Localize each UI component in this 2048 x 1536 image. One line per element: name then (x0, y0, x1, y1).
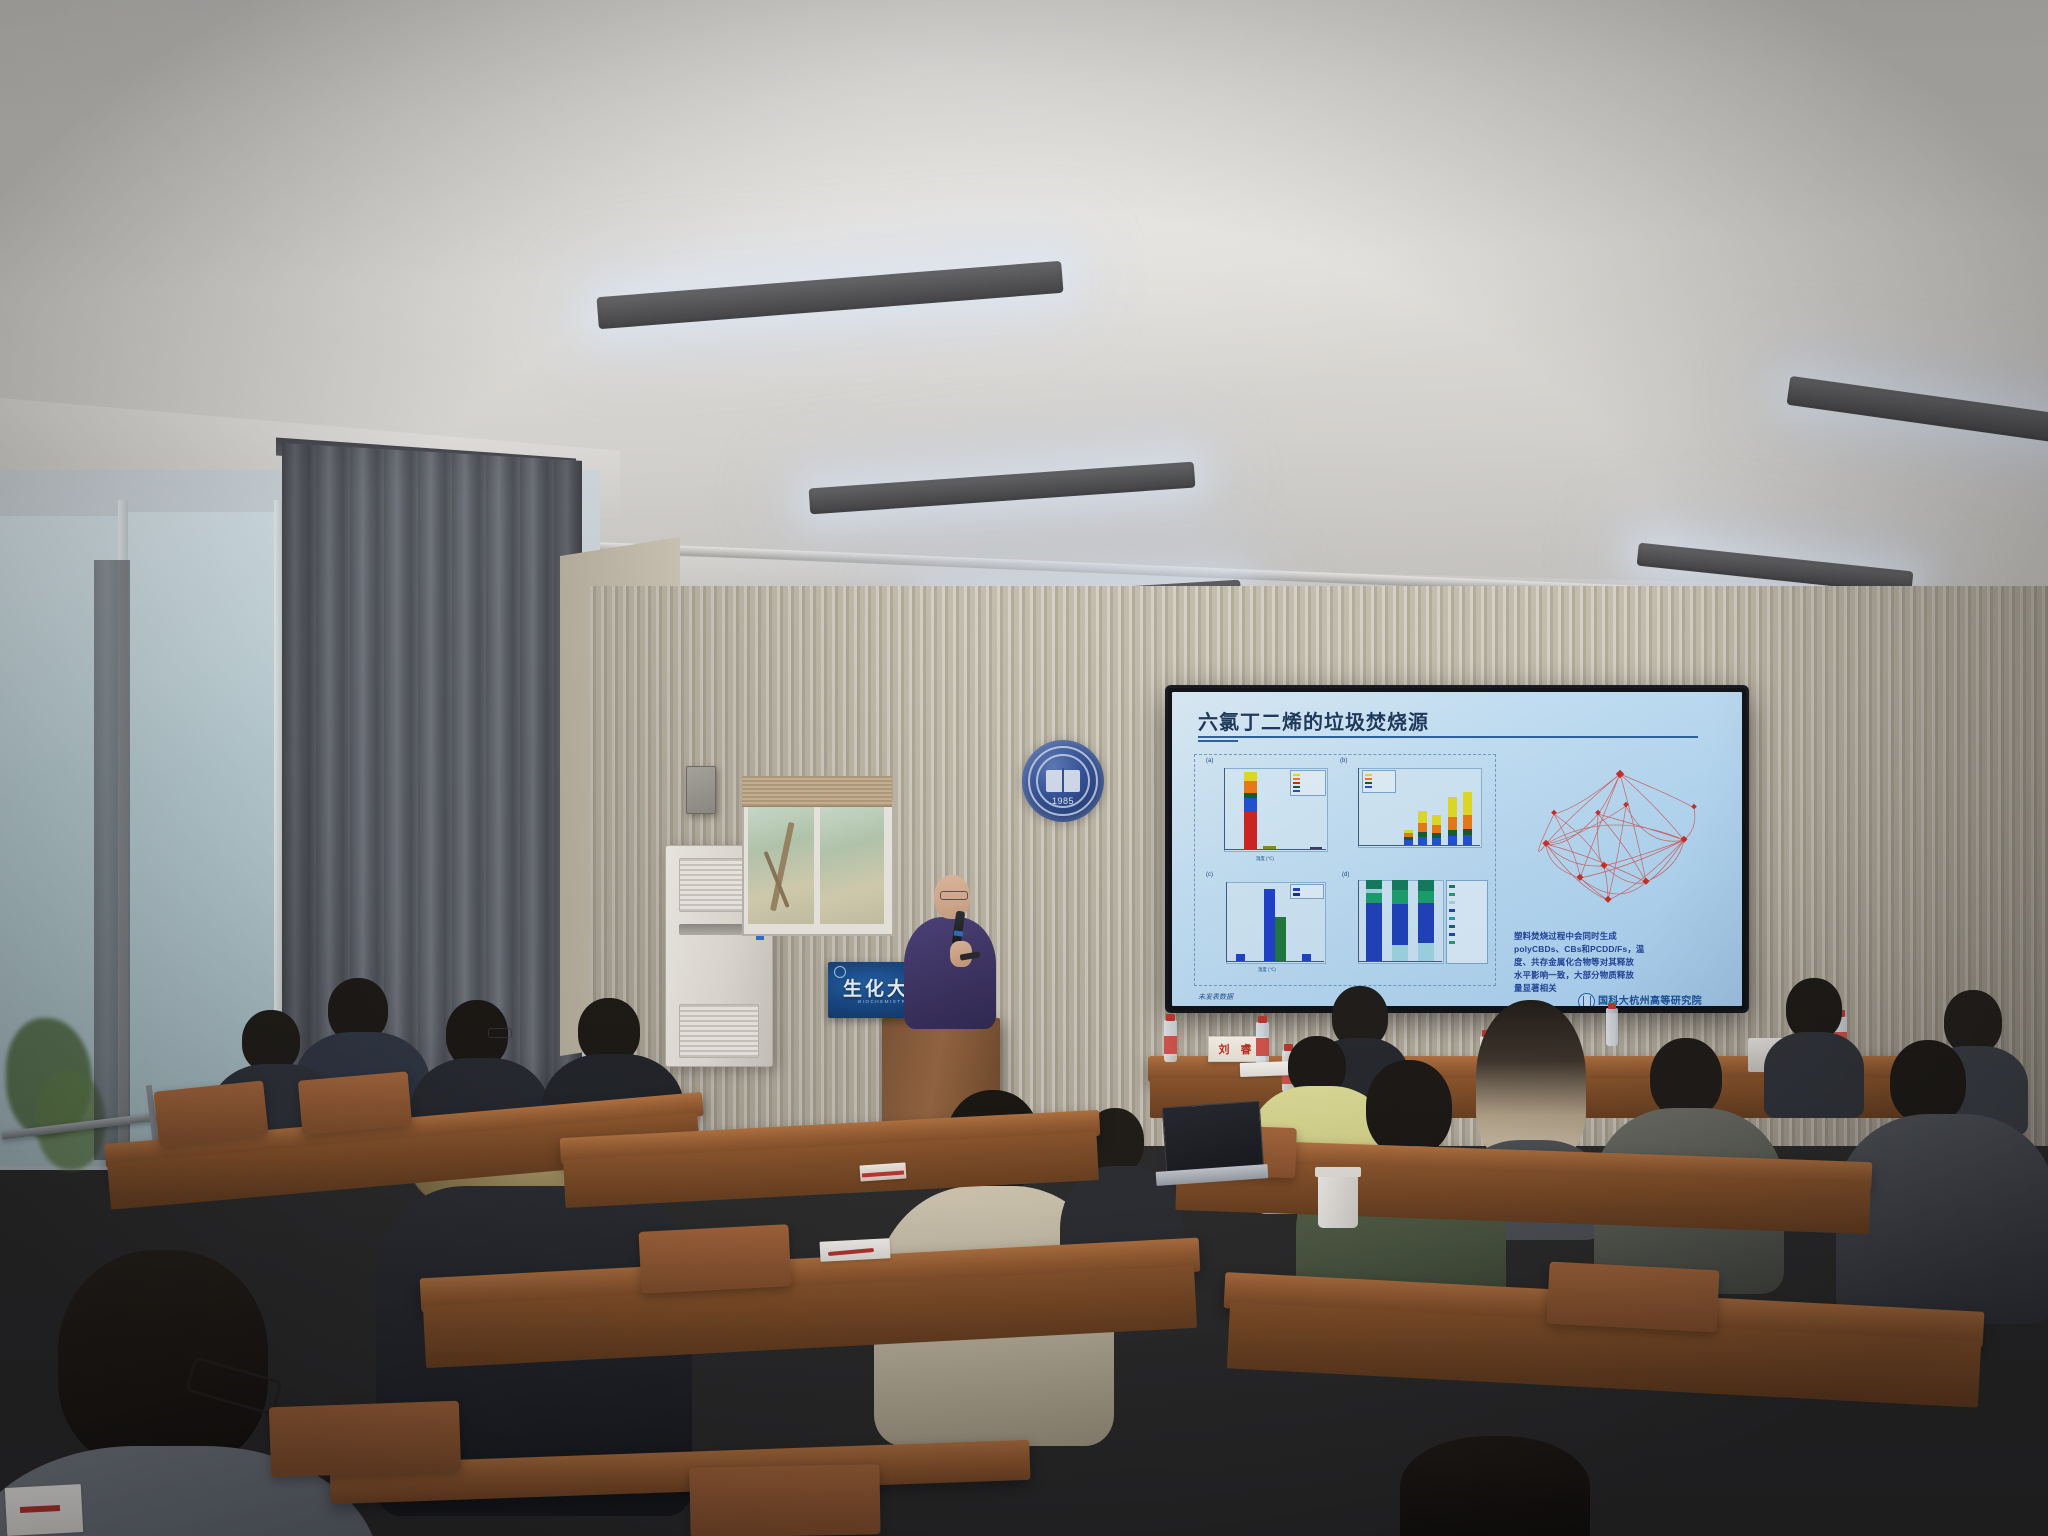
chart-panel-b: (b) (1338, 760, 1488, 868)
panel-c-label: (c) (1206, 872, 1213, 878)
chair-back-1[interactable] (153, 1080, 268, 1145)
speaker-torso (904, 917, 996, 1029)
chair-back-2[interactable] (298, 1071, 412, 1134)
panel-a-label: (a) (1206, 758, 1213, 764)
panel-d-legend-swatch-4 (1449, 909, 1455, 912)
panel-c-yaxis (1226, 882, 1227, 962)
panel-a-bar-500 (1263, 846, 1276, 849)
chair-back-7[interactable] (1546, 1262, 1719, 1333)
slide-title-accent (1198, 740, 1238, 742)
panel-c-xlabel: 温度 (℃) (1258, 967, 1276, 973)
name-placard-text: 刘 睿 (1218, 1041, 1255, 1057)
laptop-screen[interactable] (1162, 1101, 1265, 1176)
water-bottle-1 (1164, 1020, 1177, 1062)
ac-bottom-grille (679, 1004, 759, 1058)
panel-a-legend-swatch-3 (1293, 782, 1300, 784)
wall-speaker (686, 766, 716, 814)
panel-d-legend-swatch-1 (1449, 885, 1455, 888)
water-bottle-6 (1606, 1008, 1618, 1046)
panel-d-xaxis (1358, 961, 1442, 962)
panel-c-legend-swatch-1 (1293, 888, 1300, 891)
panel-b-bar-8 (1448, 797, 1457, 845)
panel-a-xlabel: 温度 (℃) (1256, 856, 1274, 862)
panel-a-legend-swatch-5 (1293, 790, 1300, 792)
panel-a-xaxis (1224, 849, 1326, 850)
chair-back-5[interactable] (689, 1464, 880, 1536)
podium-badge-icon (834, 966, 846, 978)
head (1650, 1038, 1722, 1118)
panel-b-bar-7 (1432, 815, 1441, 845)
panel-d-bar-750 (1418, 880, 1434, 961)
bottle-cap-6 (1608, 1003, 1616, 1009)
window-blind[interactable] (742, 776, 892, 807)
panel-b-bar-9 (1463, 792, 1472, 845)
panel-d-yaxis (1358, 880, 1359, 962)
water-bottle-2 (1256, 1022, 1269, 1064)
panel-d-legend-swatch-2 (1449, 893, 1455, 896)
chart-panel-a: (a) 温度 (℃) (1202, 760, 1334, 868)
panel-b-legend-swatch-4 (1365, 786, 1372, 788)
curtain-side[interactable] (94, 560, 130, 1160)
slide-footnote: 未发表数据 (1198, 992, 1233, 1002)
body (1764, 1032, 1864, 1118)
presentation-display[interactable]: 六氯丁二烯的垃圾焚烧源 (a) (1168, 688, 1746, 1010)
speaker-mic-band (954, 930, 964, 936)
panel-b-label: (b) (1340, 758, 1347, 764)
panel-c-legend (1290, 884, 1324, 899)
panel-d-legend-swatch-8 (1449, 941, 1455, 944)
panel-d-legend-swatch-7 (1449, 933, 1455, 936)
head (1786, 978, 1842, 1040)
panel-a-legend-swatch-4 (1293, 786, 1300, 788)
bottle-cap-1 (1166, 1014, 1175, 1021)
panel-c-bar-450-pcdf (1275, 917, 1286, 961)
panel-d-label: (d) (1342, 872, 1349, 878)
head (242, 1010, 300, 1072)
panel-b-legend-swatch-2 (1365, 778, 1372, 780)
seal-book-spine (1062, 768, 1064, 794)
panel-d-bar-550 (1392, 880, 1408, 961)
panel-c-bar-450-pcdd (1264, 889, 1275, 961)
slide-title: 六氯丁二烯的垃圾焚烧源 (1198, 706, 1429, 735)
panel-a-legend (1290, 770, 1326, 796)
speaker-glasses-icon (940, 891, 968, 900)
speaker-presenter (898, 845, 1006, 1025)
cup-lid (1315, 1167, 1361, 1177)
bottle-label-2 (1256, 1038, 1269, 1056)
slide-para-line-1: 塑料焚烧过程中会同时生成 (1514, 930, 1732, 943)
head (1366, 1060, 1452, 1156)
ucas-logo-icon (1578, 993, 1595, 1006)
panel-c-bar-350-pcdd (1236, 954, 1245, 961)
bottle-label-1 (1164, 1036, 1177, 1054)
university-seal: 1985 (1022, 740, 1104, 822)
panel-b-yaxis (1358, 768, 1359, 846)
chart-panel-c: (c) 温度 (℃) (1202, 874, 1334, 978)
panel-a-legend-swatch-2 (1293, 778, 1300, 780)
panel-c-bar-650-pcdd (1302, 954, 1311, 961)
panel-a-yaxis (1224, 768, 1225, 850)
head (58, 1250, 268, 1470)
chair-back-3[interactable] (638, 1224, 791, 1294)
panel-a-legend-swatch-1 (1293, 774, 1300, 776)
head (1890, 1040, 1966, 1124)
institution-logo: 国科大杭州高等研究院 Hangzhou Institute for Advanc… (1578, 992, 1702, 1006)
seal-year: 1985 (1022, 796, 1104, 806)
panel-d-legend-swatch-3 (1449, 901, 1455, 904)
panel-d-legend (1446, 880, 1488, 964)
head (1944, 990, 2002, 1054)
panel-a-bar-800 (1310, 847, 1322, 849)
panel-d-bar-350 (1366, 880, 1382, 961)
panel-d-legend-swatch-6 (1449, 925, 1455, 928)
bottle-cap-2 (1258, 1016, 1267, 1023)
panel-c-xaxis (1226, 961, 1324, 962)
head (1400, 1436, 1590, 1536)
glasses-icon (488, 1028, 512, 1038)
panel-a-bar-400-seg5 (1244, 772, 1257, 781)
correlation-network-diagram (1508, 748, 1726, 926)
panel-a-bar-400-seg4 (1244, 781, 1257, 793)
panel-b-bar-6 (1418, 811, 1427, 845)
slide-para-line-2: polyCBDs、CBs和PCDD/Fs，温 (1514, 943, 1732, 956)
panel-b-legend (1362, 770, 1396, 793)
slide-title-rule (1198, 736, 1698, 738)
panel-b-legend-swatch-1 (1365, 774, 1372, 776)
chair-back-4[interactable] (269, 1401, 461, 1478)
panel-a-bar-400-seg2 (1244, 798, 1257, 812)
chart-panel-d: (d) (1340, 874, 1490, 978)
podium-window-pane-right (820, 806, 884, 924)
panel-b-legend-swatch-3 (1365, 782, 1372, 784)
slide-paragraph: 塑料焚烧过程中会同时生成 polyCBDs、CBs和PCDD/Fs，温 度、共存… (1514, 930, 1732, 995)
panel-b-xaxis (1358, 845, 1480, 846)
panel-a-bar-400-seg3 (1244, 793, 1257, 798)
network-svg (1508, 748, 1726, 926)
panel-a-bar-400-seg1 (1244, 812, 1257, 849)
coffee-cup (1318, 1172, 1358, 1228)
panel-d-legend-swatch-5 (1449, 917, 1455, 920)
panel-c-legend-swatch-2 (1293, 893, 1300, 896)
slide-para-line-3: 度、共存金属化合物等对其释放 (1514, 956, 1732, 969)
hair (1476, 1000, 1586, 1160)
lecture-hall-photo: 1985 六氯丁二烯的垃圾焚烧源 (a) (0, 0, 2048, 1536)
slide-para-line-4: 水平影响一致，大部分物质释放 (1514, 969, 1732, 982)
slide-content: 六氯丁二烯的垃圾焚烧源 (a) (1172, 692, 1742, 1006)
panel-b-bar-5 (1404, 830, 1413, 845)
